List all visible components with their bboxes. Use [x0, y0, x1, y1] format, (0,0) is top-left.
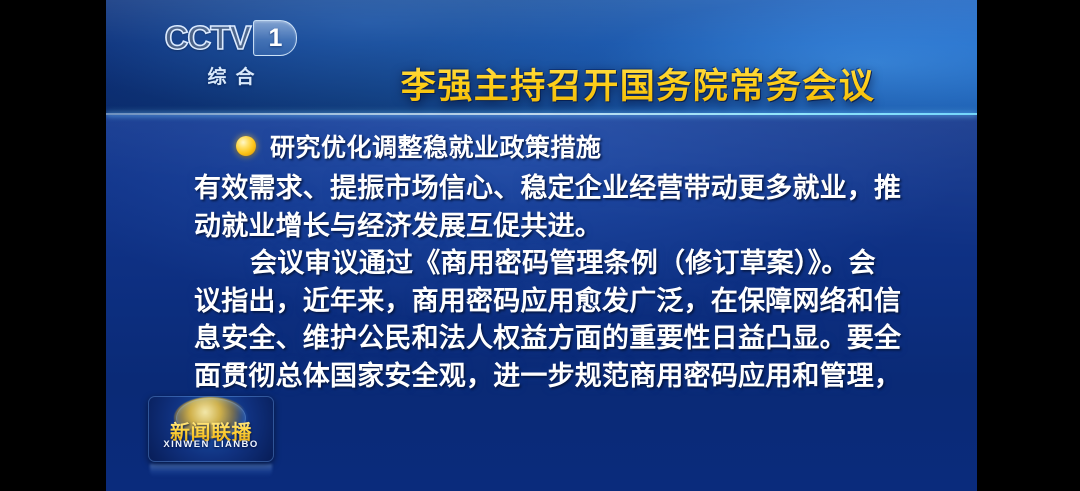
cctv-logo-row: CCTV 1: [156, 18, 306, 58]
body-line: 面贯彻总体国家安全观，进一步规范商用密码应用和管理，: [194, 358, 894, 396]
channel-number: 1: [268, 26, 282, 51]
news-headline: 李强主持召开国务院常务会议: [308, 58, 968, 109]
body-line: 息安全、维护公民和法人权益方面的重要性日益凸显。要全: [194, 320, 894, 358]
channel-number-badge: 1: [253, 20, 297, 56]
letterbox-right: [977, 0, 1080, 491]
letterbox-left: [0, 0, 106, 491]
channel-name-label: 综合: [156, 62, 306, 89]
video-frame: CCTV 1 综合 李强主持召开国务院常务会议 研究优化调整稳就业政策措施 有效…: [106, 0, 977, 491]
body-line: 有效需求、提振市场信心、稳定企业经营带动更多就业，推: [194, 170, 894, 208]
body-line: 动就业增长与经济发展互促共进。: [194, 208, 894, 246]
program-logo-reflection: [150, 464, 272, 477]
body-line: 议指出，近年来，商用密码应用愈发广泛，在保障网络和信: [194, 283, 894, 321]
program-logo-xinwen-lianbo: 新闻联播 XINWEN LIANBO: [148, 396, 274, 462]
subtitle-text: 研究优化调整稳就业政策措施: [270, 128, 602, 164]
program-name-en: XINWEN LIANBO: [148, 439, 274, 450]
broadcast-screenshot: CCTV 1 综合 李强主持召开国务院常务会议 研究优化调整稳就业政策措施 有效…: [0, 0, 1080, 491]
cctv-wordmark: CCTV: [165, 18, 251, 58]
news-body-copy: 有效需求、提振市场信心、稳定企业经营带动更多就业，推 动就业增长与经济发展互促共…: [194, 170, 894, 395]
gold-bullet-icon: [236, 136, 256, 156]
cctv-channel-logo: CCTV 1 综合: [156, 18, 306, 100]
subtitle-row: 研究优化调整稳就业政策措施: [236, 128, 602, 164]
header-divider: [106, 113, 977, 115]
body-line: 会议审议通过《商用密码管理条例（修订草案）》。会: [194, 245, 894, 283]
